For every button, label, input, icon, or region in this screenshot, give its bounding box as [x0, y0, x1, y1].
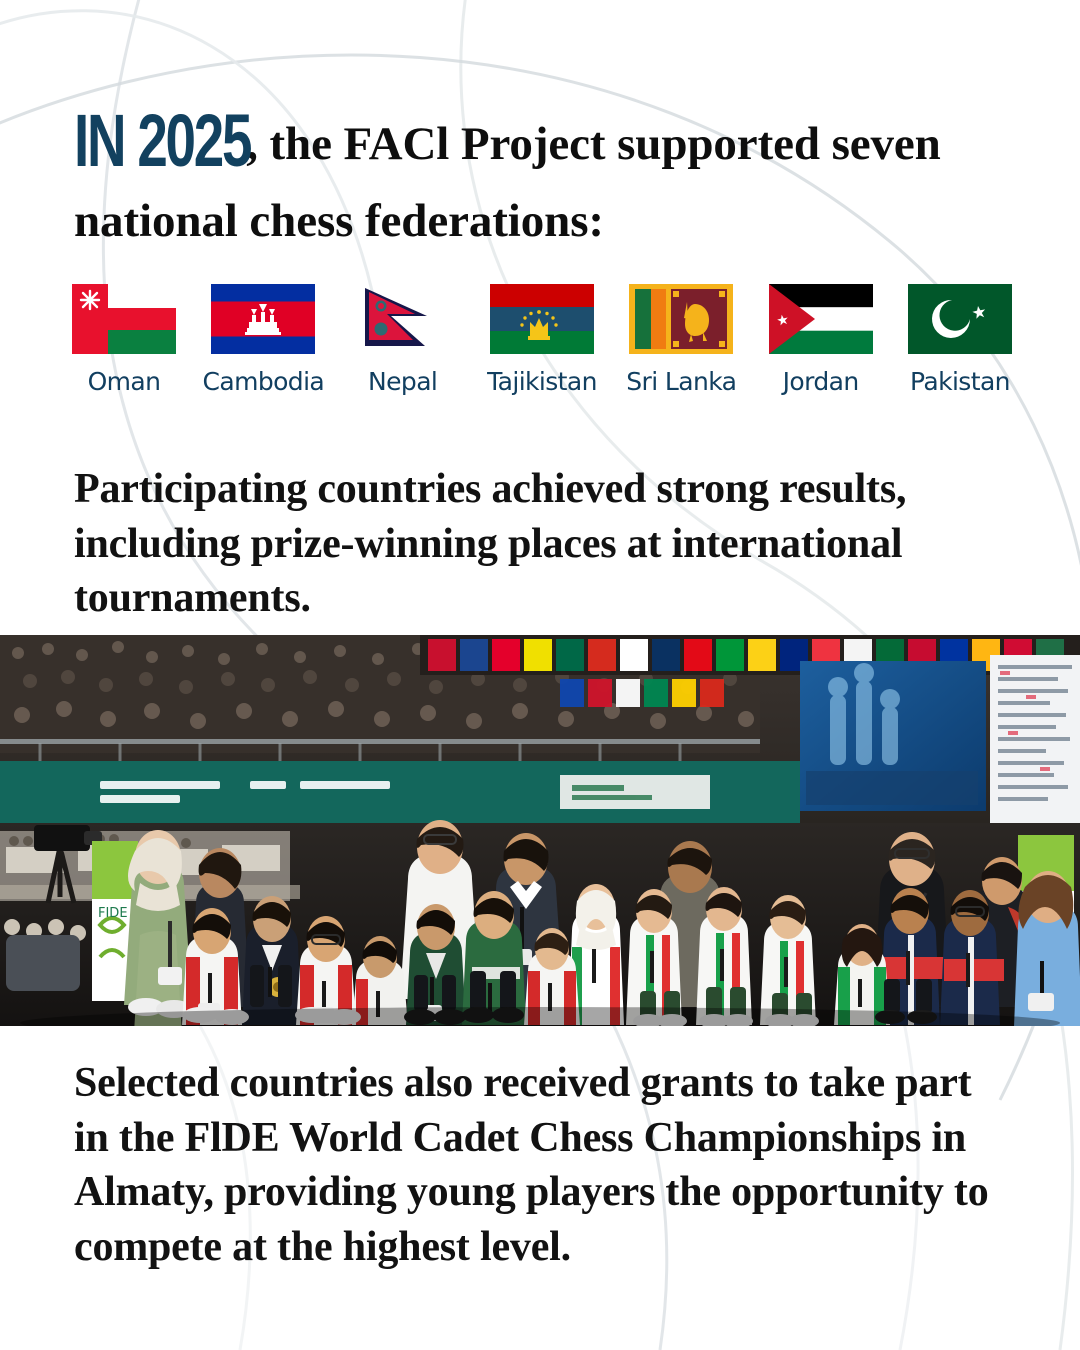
flag-tajikistan-icon: [489, 283, 595, 354]
list-item: Sri Lanka: [619, 283, 743, 396]
federation-flags-list: Oman: [62, 283, 1022, 396]
list-item: Jordan: [759, 283, 883, 396]
flag-label: Pakistan: [910, 367, 1010, 396]
flag-jordan-icon: [768, 283, 874, 354]
photo-illustration: FIDE CADET SHIPS: [0, 635, 1080, 1026]
paragraph-results: Participating countries achieved strong …: [74, 462, 954, 626]
flag-pakistan-icon: [907, 283, 1013, 354]
list-item: Pakistan: [898, 283, 1022, 396]
flag-nepal-icon: [350, 283, 456, 354]
flag-label: Nepal: [368, 367, 437, 396]
headline-year: IN 2025: [74, 92, 250, 190]
championship-photo: FIDE CADET SHIPS: [0, 635, 1080, 1026]
page-title: IN 2025, the FACl Project supported seve…: [74, 92, 974, 252]
list-item: Tajikistan: [480, 283, 604, 396]
flag-cambodia-icon: [210, 283, 316, 354]
flag-label: Sri Lanka: [626, 367, 736, 396]
list-item: Oman: [62, 283, 186, 396]
flag-srilanka-icon: [628, 283, 734, 354]
flag-label: Tajikistan: [487, 367, 597, 396]
flag-label: Oman: [88, 367, 161, 396]
svg-text:FIDE: FIDE: [98, 906, 128, 921]
list-item: Nepal: [341, 283, 465, 396]
flag-label: Jordan: [783, 367, 859, 396]
flag-label: Cambodia: [203, 367, 325, 396]
paragraph-grants: Selected countries also received grants …: [74, 1056, 1004, 1274]
list-item: Cambodia: [201, 283, 325, 396]
flag-oman-icon: [71, 283, 177, 354]
poster-root: IN 2025, the FACl Project supported seve…: [0, 0, 1080, 1350]
